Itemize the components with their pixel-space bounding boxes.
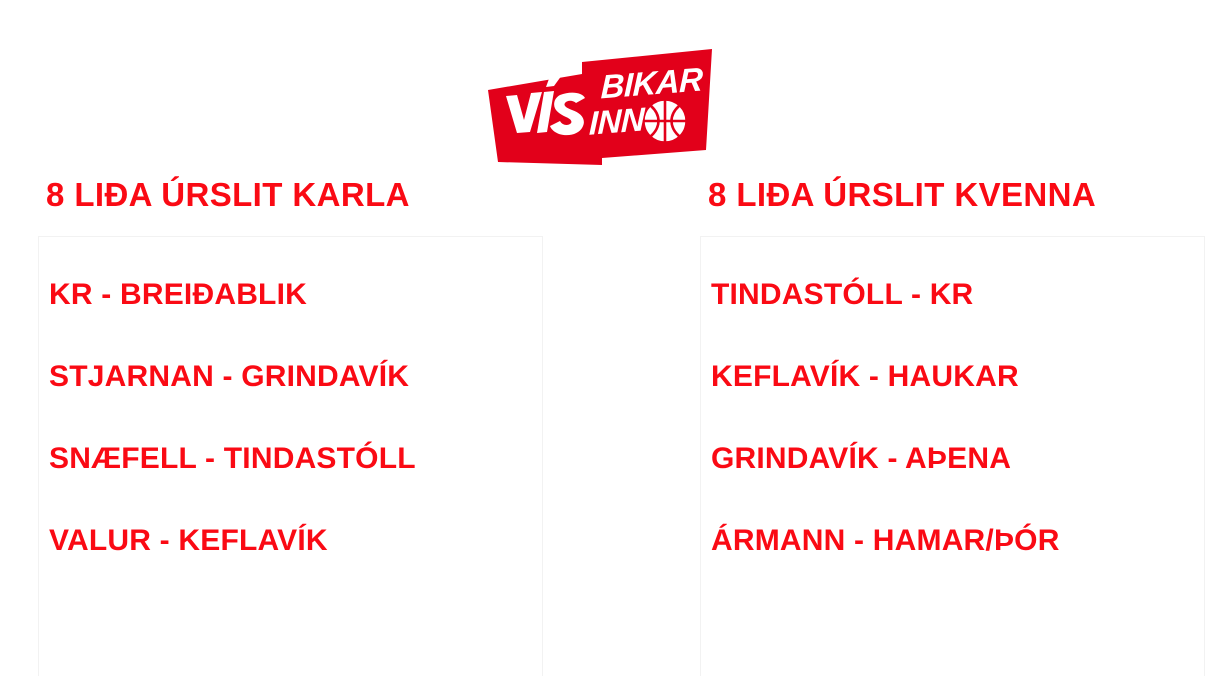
match-item[interactable]: STJARNAN - GRINDAVÍK bbox=[49, 362, 542, 392]
column-women: 8 LIÐA ÚRSLIT KVENNA TINDASTÓLL - KR KEF… bbox=[700, 178, 1205, 674]
match-item[interactable]: GRINDAVÍK - AÞENA bbox=[711, 444, 1204, 474]
match-item[interactable]: SNÆFELL - TINDASTÓLL bbox=[49, 444, 542, 474]
column-men: 8 LIÐA ÚRSLIT KARLA KR - BREIÐABLIK STJA… bbox=[38, 178, 543, 674]
match-list-women: TINDASTÓLL - KR KEFLAVÍK - HAUKAR GRINDA… bbox=[700, 236, 1205, 676]
svg-text:INN: INN bbox=[589, 101, 647, 143]
match-list-men: KR - BREIÐABLIK STJARNAN - GRINDAVÍK SNÆ… bbox=[38, 236, 543, 676]
match-item[interactable]: VALUR - KEFLAVÍK bbox=[49, 526, 542, 556]
match-item[interactable]: KR - BREIÐABLIK bbox=[49, 280, 542, 310]
match-item[interactable]: KEFLAVÍK - HAUKAR bbox=[711, 362, 1204, 392]
basketball-icon bbox=[644, 100, 686, 142]
match-item[interactable]: TINDASTÓLL - KR bbox=[711, 280, 1204, 310]
brackets-container: 8 LIÐA ÚRSLIT KARLA KR - BREIÐABLIK STJA… bbox=[0, 178, 1205, 674]
logo-graphic: BIKAR INN bbox=[484, 46, 716, 166]
column-title-women: 8 LIÐA ÚRSLIT KVENNA bbox=[708, 178, 1205, 211]
match-item[interactable]: ÁRMANN - HAMAR/ÞÓR bbox=[711, 526, 1204, 556]
vis-bikarinn-logo: BIKAR INN bbox=[484, 46, 716, 166]
column-title-men: 8 LIÐA ÚRSLIT KARLA bbox=[46, 178, 543, 211]
